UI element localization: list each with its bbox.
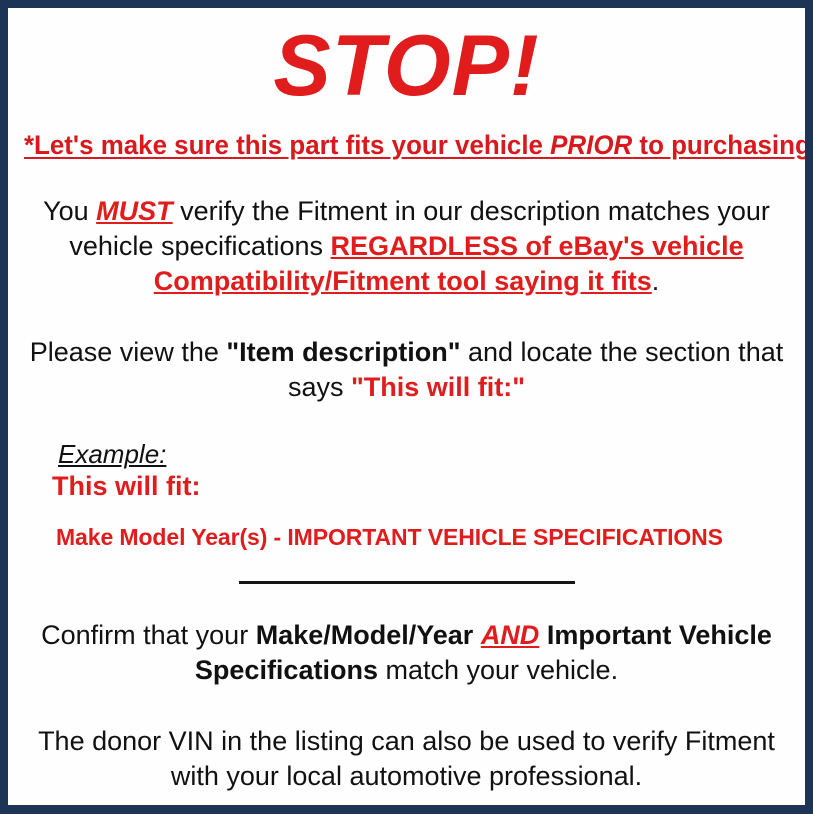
thank-you-message: Thank you for confirming Fitment! [8, 794, 805, 805]
must-part-1: You [43, 196, 96, 226]
example-block: Example: This will fit: Make Model Year(… [8, 405, 805, 551]
example-fit-header: This will fit: [52, 469, 805, 503]
and-emphasis: AND [481, 620, 540, 650]
confirm-part-2: match your vehicle. [378, 655, 618, 685]
donor-vin-paragraph: The donor VIN in the listing can also be… [8, 688, 805, 794]
confirm-part-1: Confirm that your [41, 620, 256, 650]
view-description-paragraph: Please view the "Item description" and l… [8, 299, 805, 405]
view-part-1: Please view the [30, 337, 227, 367]
must-emphasis: MUST [96, 196, 173, 226]
must-part-3: . [652, 266, 660, 296]
horizontal-divider [239, 581, 575, 584]
subhead-emphasis-prior: PRIOR [550, 130, 632, 160]
confirm-space-2 [539, 620, 547, 650]
fitment-warning-poster: STOP! *Let's make sure this part fits yo… [0, 0, 813, 814]
confirm-paragraph: Confirm that your Make/Model/Year AND Im… [8, 592, 805, 688]
subhead-prefix: *Let's make sure this part fits your veh… [24, 130, 550, 160]
page-title: STOP! [8, 8, 805, 114]
must-verify-paragraph: You MUST verify the Fitment in our descr… [8, 162, 805, 299]
example-label-row: Example: [52, 439, 805, 469]
make-model-year-emphasis: Make/Model/Year [256, 620, 474, 650]
confirm-space-1 [473, 620, 481, 650]
subhead-banner: *Let's make sure this part fits your veh… [24, 114, 789, 162]
subhead-suffix: to purchasing* [632, 130, 805, 160]
item-description-emphasis: "Item description" [226, 337, 460, 367]
divider-wrapper [8, 551, 805, 592]
example-label: Example: [52, 439, 166, 469]
example-spec-line: Make Model Year(s) - IMPORTANT VEHICLE S… [52, 503, 805, 551]
this-will-fit-emphasis: "This will fit:" [351, 372, 525, 402]
poster-inner-panel: STOP! *Let's make sure this part fits yo… [8, 8, 805, 805]
